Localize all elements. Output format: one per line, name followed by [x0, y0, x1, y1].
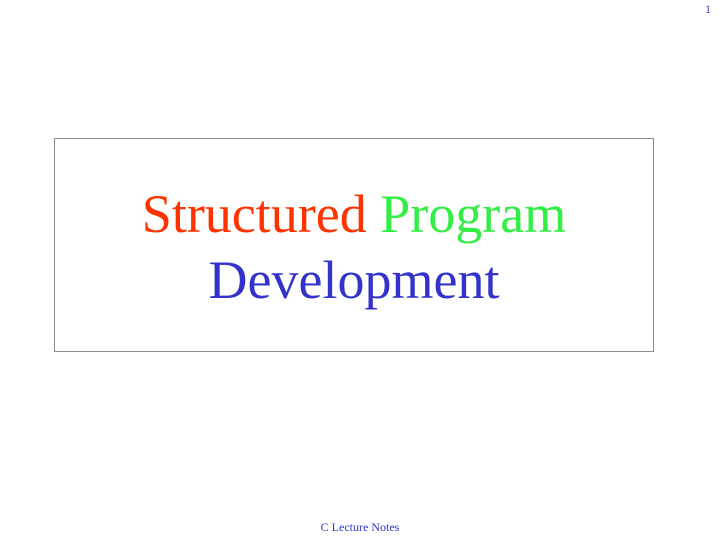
title-word-program: Program: [380, 184, 566, 244]
footer-text: C Lecture Notes: [0, 521, 720, 533]
title-line-1: Structured Program: [142, 182, 566, 248]
title-word-space: [367, 184, 381, 244]
slide-canvas: 1 Structured Program Development C Lectu…: [0, 0, 720, 540]
page-number: 1: [705, 3, 711, 15]
title-word-development: Development: [209, 250, 500, 310]
title-line-2: Development: [209, 248, 500, 314]
title-word-structured: Structured: [142, 184, 367, 244]
title-box: Structured Program Development: [54, 138, 654, 352]
